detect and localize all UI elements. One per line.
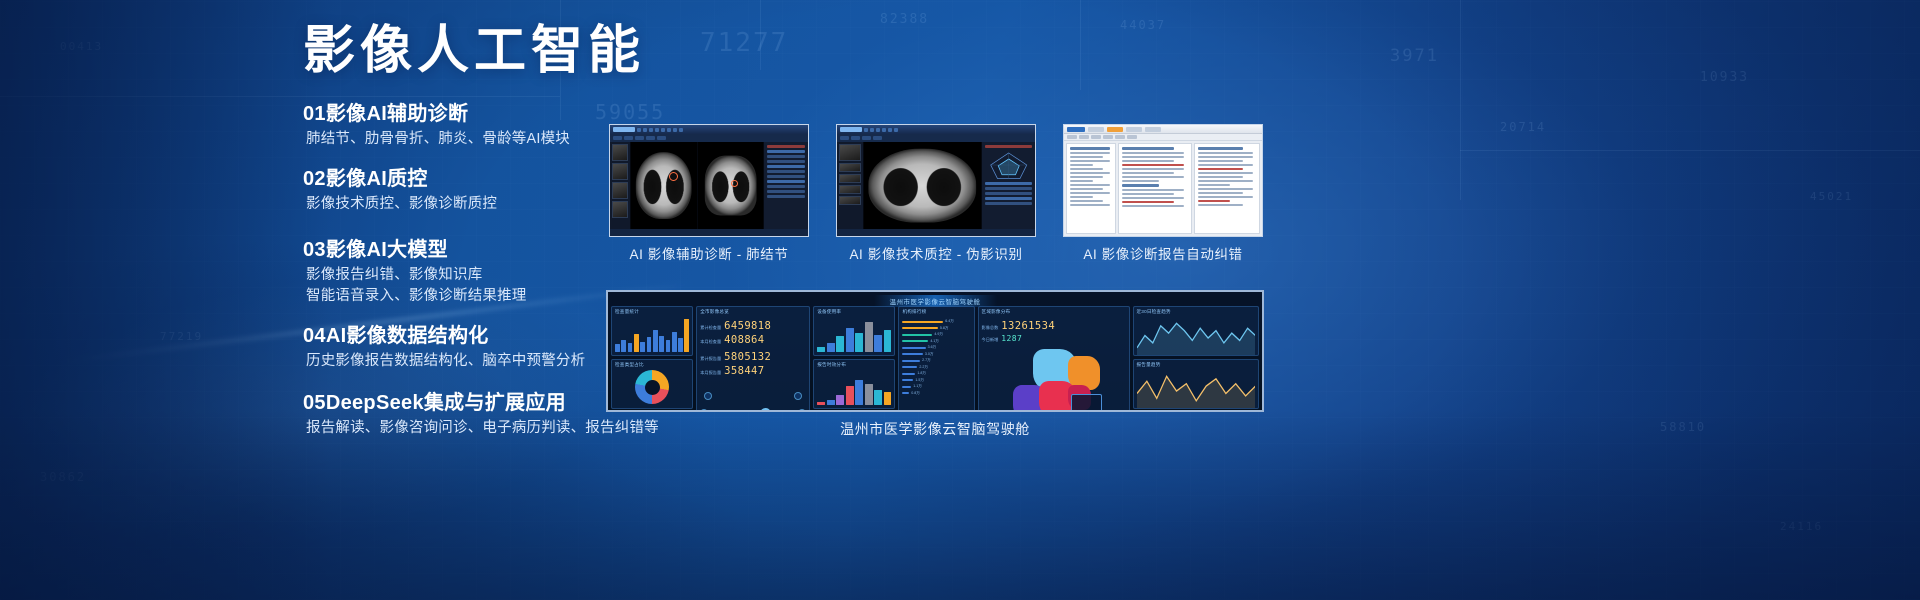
ranking-row: 5.8万 bbox=[902, 326, 970, 331]
stat-row: 累计检查量 6459818 bbox=[700, 320, 806, 332]
stat-label: 累计检查量 bbox=[700, 325, 721, 331]
dashboard-header: 温州市医学影像云智脑驾驶舱 bbox=[611, 295, 1259, 306]
stat-value: 6459818 bbox=[724, 320, 771, 332]
ranking-bar bbox=[902, 321, 943, 323]
series-thumbnail[interactable] bbox=[839, 144, 861, 161]
ranking-row: 4.1万 bbox=[902, 339, 970, 344]
toolbar-button[interactable] bbox=[657, 136, 666, 140]
dashboard-column-3: 设备使用率 报告时效分布 bbox=[813, 306, 895, 412]
list-item[interactable] bbox=[1070, 192, 1110, 194]
ranking-bar bbox=[902, 334, 932, 336]
bar bbox=[884, 330, 892, 352]
list-item[interactable] bbox=[1070, 188, 1103, 190]
suggestion-line bbox=[1198, 192, 1243, 194]
toolbar-icon[interactable] bbox=[870, 128, 874, 132]
stat-value: 358447 bbox=[724, 365, 764, 377]
list-item[interactable] bbox=[1070, 164, 1093, 166]
report-secondary-toolbar bbox=[1064, 134, 1262, 141]
app-logo-icon bbox=[840, 127, 862, 132]
app-logo-icon bbox=[1067, 127, 1085, 132]
bar bbox=[874, 390, 882, 405]
stat-row: 本月检查量 408864 bbox=[700, 334, 806, 346]
panel-row bbox=[985, 182, 1032, 185]
ranking-value: 3.0万 bbox=[925, 352, 934, 357]
map-stat-label: 影像总数 bbox=[982, 325, 999, 331]
panel-row bbox=[985, 187, 1032, 190]
toolbar-button[interactable] bbox=[1067, 135, 1077, 139]
report-line bbox=[1122, 180, 1158, 182]
toolbar-button[interactable] bbox=[862, 136, 871, 140]
card-title: 检查类型占比 bbox=[615, 362, 689, 368]
suggestion-line bbox=[1198, 188, 1252, 190]
list-item[interactable] bbox=[1070, 156, 1103, 158]
app-logo-icon bbox=[613, 127, 635, 132]
screenshot-caption-1: AI 影像辅助诊断 - 肺结节 bbox=[609, 243, 809, 263]
chart-card-bar-4[interactable]: 报告时效分布 bbox=[813, 359, 895, 409]
ct-axial-view[interactable] bbox=[631, 142, 697, 229]
suggestion-line bbox=[1198, 172, 1252, 174]
qc-result-panel[interactable] bbox=[982, 142, 1035, 229]
panel-row bbox=[767, 170, 805, 173]
bar bbox=[865, 322, 873, 352]
ranking-value: 4.9万 bbox=[934, 332, 943, 337]
list-item[interactable] bbox=[1070, 168, 1103, 170]
screenshot-caption-3: AI 影像诊断报告自动纠错 bbox=[1063, 243, 1263, 263]
human-figure-adult-right bbox=[760, 408, 771, 412]
ranking-bar bbox=[902, 373, 915, 375]
list-item[interactable] bbox=[1070, 176, 1103, 178]
toolbar-icon[interactable] bbox=[882, 128, 886, 132]
ranking-bar bbox=[902, 353, 922, 355]
list-item[interactable] bbox=[1070, 196, 1093, 198]
toolbar-icon[interactable] bbox=[888, 128, 892, 132]
ranking-bar bbox=[902, 392, 909, 394]
panel-row bbox=[767, 185, 805, 188]
report-line bbox=[1122, 193, 1173, 195]
stat-value: 5805132 bbox=[724, 351, 771, 363]
stat-row: 累计报告量 5805132 bbox=[700, 351, 806, 363]
bar bbox=[884, 392, 892, 405]
ranking-value: 1.5万 bbox=[915, 378, 924, 383]
panel-row bbox=[767, 165, 805, 168]
tab-item[interactable] bbox=[1145, 127, 1161, 132]
ranking-row: 3.6万 bbox=[902, 345, 970, 350]
panel-row bbox=[767, 160, 805, 163]
ct-lung-image bbox=[704, 155, 757, 216]
ranking-bar bbox=[902, 347, 925, 349]
screenshot-caption-2: AI 影像技术质控 - 伪影识别 bbox=[836, 243, 1036, 263]
toolbar-icon[interactable] bbox=[894, 128, 898, 132]
card-title: 报告量趋势 bbox=[1137, 362, 1255, 368]
ranking-bar bbox=[902, 386, 911, 388]
body-part-icon bbox=[794, 392, 802, 400]
donut-chart bbox=[635, 370, 669, 404]
dashboard-column-6: 近30日检查趋势 报告量趋势 bbox=[1133, 306, 1259, 412]
line-chart bbox=[1137, 369, 1255, 409]
bar bbox=[672, 332, 677, 352]
toolbar-button[interactable] bbox=[873, 136, 882, 140]
toolbar-icon[interactable] bbox=[649, 128, 653, 132]
region-map[interactable] bbox=[982, 347, 1126, 412]
suggestion-error-line bbox=[1198, 200, 1230, 202]
map-stat-label: 今日新增 bbox=[982, 337, 999, 343]
ranking-bar bbox=[902, 379, 913, 381]
ranking-row: 0.8万 bbox=[902, 391, 970, 396]
list-item[interactable] bbox=[1070, 200, 1103, 202]
bar bbox=[659, 336, 664, 352]
panel-row bbox=[767, 175, 805, 178]
list-item[interactable] bbox=[1070, 184, 1110, 186]
card-title: 近30日检查趋势 bbox=[1137, 309, 1255, 315]
pacs-body bbox=[837, 142, 1035, 229]
suggestion-line bbox=[1198, 160, 1243, 162]
map-legend-gradient bbox=[1120, 410, 1123, 412]
correction-suggestion-panel[interactable] bbox=[1194, 143, 1260, 234]
ranking-value: 4.1万 bbox=[930, 339, 939, 344]
report-line bbox=[1122, 160, 1173, 162]
ranking-row: 2.2万 bbox=[902, 365, 970, 370]
screenshot-dashboard[interactable]: 温州市医学影像云智脑驾驶舱 检查量统计 bbox=[606, 290, 1264, 412]
series-thumbnail[interactable] bbox=[839, 185, 861, 194]
pacs-viewer bbox=[610, 125, 808, 236]
toolbar-button[interactable] bbox=[1091, 135, 1101, 139]
pacs-body bbox=[610, 142, 808, 229]
tab-item[interactable] bbox=[1088, 127, 1104, 132]
list-item[interactable] bbox=[1070, 204, 1110, 206]
dashboard-grid: 检查量统计 bbox=[611, 306, 1259, 412]
suggestion-error-line bbox=[1198, 168, 1243, 170]
report-text-panel[interactable] bbox=[1118, 143, 1192, 234]
report-toolbar bbox=[1064, 125, 1262, 134]
chart-card-bar-3[interactable]: 设备使用率 bbox=[813, 306, 895, 356]
bar bbox=[874, 335, 882, 352]
bar-chart bbox=[615, 316, 689, 352]
report-error-line bbox=[1122, 164, 1184, 166]
ranking-value: 6.4万 bbox=[945, 319, 954, 324]
bar-chart bbox=[817, 369, 891, 405]
human-figure-adult-left bbox=[735, 411, 746, 412]
bar bbox=[836, 336, 844, 352]
card-title: 全市影像总览 bbox=[700, 309, 806, 315]
series-thumbnail[interactable] bbox=[839, 163, 861, 172]
panel-row bbox=[985, 197, 1032, 200]
report-line bbox=[1122, 197, 1184, 199]
series-thumbnail[interactable] bbox=[612, 144, 628, 161]
ranking-value: 2.7万 bbox=[922, 358, 931, 363]
bar bbox=[678, 338, 683, 352]
worklist-panel[interactable] bbox=[1066, 143, 1116, 234]
report-line bbox=[1122, 176, 1184, 178]
ranking-value: 1.1万 bbox=[913, 384, 922, 389]
bar bbox=[846, 328, 854, 353]
toolbar-icon[interactable] bbox=[673, 128, 677, 132]
report-line bbox=[1122, 172, 1173, 174]
report-line bbox=[1122, 152, 1184, 154]
panel-header bbox=[985, 145, 1032, 148]
toolbar-button[interactable] bbox=[613, 136, 622, 140]
pacs-statusbar bbox=[837, 229, 1035, 236]
toolbar-icon[interactable] bbox=[661, 128, 665, 132]
ct-axial-view[interactable] bbox=[864, 142, 981, 229]
toolbar-icon[interactable] bbox=[643, 128, 647, 132]
stat-label: 累计报告量 bbox=[700, 356, 721, 362]
toolbar-icon[interactable] bbox=[876, 128, 880, 132]
map-tooltip bbox=[1071, 394, 1103, 412]
report-editor bbox=[1064, 125, 1262, 236]
report-line bbox=[1122, 189, 1184, 191]
stat-value: 408864 bbox=[724, 334, 764, 346]
series-thumbnail-rail[interactable] bbox=[837, 142, 863, 229]
bar bbox=[855, 333, 863, 352]
line-chart bbox=[1137, 316, 1255, 356]
card-title: 报告时效分布 bbox=[817, 362, 891, 368]
ct-coronal-view[interactable] bbox=[698, 142, 764, 229]
chart-card-line-2[interactable]: 报告量趋势 bbox=[1133, 359, 1259, 409]
nodule-marker bbox=[731, 180, 738, 187]
ranking-value: 2.2万 bbox=[919, 365, 928, 370]
page-title: 影像人工智能 bbox=[303, 24, 733, 79]
suggestion-line bbox=[1198, 196, 1252, 198]
human-figure-visual bbox=[700, 381, 806, 412]
ranking-row: 3.0万 bbox=[902, 352, 970, 357]
toolbar-icon[interactable] bbox=[637, 128, 641, 132]
map-stat-row: 今日新增 1287 bbox=[982, 334, 1126, 343]
series-thumbnail[interactable] bbox=[612, 201, 628, 218]
dashboard-caption: 温州市医学影像云智脑驾驶舱 bbox=[606, 419, 1264, 439]
series-thumbnail[interactable] bbox=[839, 196, 861, 205]
ranking-row: 6.4万 bbox=[902, 319, 970, 324]
bar bbox=[865, 384, 873, 405]
bar bbox=[666, 340, 671, 352]
ranking-row: 4.9万 bbox=[902, 332, 970, 337]
stat-label: 本月检查量 bbox=[700, 339, 721, 345]
suggestion-line bbox=[1198, 176, 1243, 178]
series-thumbnail[interactable] bbox=[612, 163, 628, 180]
toolbar-button[interactable] bbox=[1103, 135, 1113, 139]
ct-chest-image bbox=[868, 148, 975, 223]
suggestion-line bbox=[1198, 204, 1243, 206]
ranking-bar bbox=[902, 366, 917, 368]
report-line bbox=[1122, 168, 1184, 170]
panel-row bbox=[767, 195, 805, 198]
suggestion-line bbox=[1198, 180, 1252, 182]
dashboard-column-2: 全市影像总览 累计检查量 6459818 本月检查量 408864 累计报告量 … bbox=[696, 306, 810, 412]
dashboard-title: 温州市医学影像云智脑驾驶舱 bbox=[874, 295, 997, 307]
card-title: 检查量统计 bbox=[615, 309, 689, 315]
panel-row bbox=[767, 155, 805, 158]
ct-lung-image bbox=[635, 152, 692, 220]
list-item[interactable] bbox=[1070, 172, 1110, 174]
map-stat-row: 影像总数 13261534 bbox=[982, 320, 1126, 332]
panel-row bbox=[767, 180, 805, 183]
bar bbox=[684, 319, 689, 352]
toolbar-button[interactable] bbox=[624, 136, 633, 140]
bar bbox=[817, 402, 825, 406]
suggestion-line bbox=[1198, 184, 1230, 186]
toolbar-icon[interactable] bbox=[655, 128, 659, 132]
series-thumbnail[interactable] bbox=[839, 174, 861, 183]
panel-row bbox=[767, 150, 805, 153]
stat-label: 本月报告量 bbox=[700, 370, 721, 376]
pacs-viewer bbox=[837, 125, 1035, 236]
list-item[interactable] bbox=[1070, 180, 1093, 182]
dashboard-column-4-ranking[interactable]: 机构排行榜 6.4万 5.8万 4.9万 4.1万 3.6万 3.0万 2.7万… bbox=[898, 306, 974, 412]
ranking-value: 3.6万 bbox=[928, 345, 937, 350]
toolbar-button[interactable] bbox=[635, 136, 644, 140]
panel-row bbox=[985, 192, 1032, 195]
bar bbox=[827, 343, 835, 352]
toolbar-button[interactable] bbox=[1115, 135, 1125, 139]
list-header bbox=[1070, 147, 1110, 150]
toolbar-button[interactable] bbox=[840, 136, 849, 140]
tab-item-active[interactable] bbox=[1107, 127, 1123, 132]
card-title: 区域影像分布 bbox=[982, 309, 1126, 315]
section-header bbox=[1122, 184, 1158, 187]
toolbar-button[interactable] bbox=[851, 136, 860, 140]
toolbar-icon[interactable] bbox=[864, 128, 868, 132]
suggestion-line bbox=[1198, 152, 1252, 154]
ranking-bar bbox=[902, 340, 928, 342]
toolbar-icon[interactable] bbox=[679, 128, 683, 132]
bar bbox=[846, 386, 854, 405]
ranking-bar bbox=[902, 327, 937, 329]
bar bbox=[647, 337, 652, 352]
map-stat-value: 1287 bbox=[1001, 334, 1022, 343]
ranking-list: 6.4万 5.8万 4.9万 4.1万 3.6万 3.0万 2.7万 2.2万 … bbox=[902, 319, 970, 396]
ranking-row: 1.5万 bbox=[902, 378, 970, 383]
report-error-line bbox=[1122, 201, 1173, 203]
map-stat-value: 13261534 bbox=[1001, 320, 1055, 332]
ranking-row: 2.7万 bbox=[902, 358, 970, 363]
pacs-statusbar bbox=[610, 229, 808, 236]
toolbar-button[interactable] bbox=[1079, 135, 1089, 139]
bar bbox=[628, 343, 633, 352]
bar bbox=[634, 334, 639, 352]
pacs-secondary-toolbar bbox=[610, 134, 808, 142]
suggestion-line bbox=[1198, 156, 1252, 158]
nodule-marker bbox=[669, 172, 678, 181]
toolbar-button[interactable] bbox=[646, 136, 655, 140]
chart-card-bar-1[interactable]: 检查量统计 bbox=[611, 306, 693, 356]
toolbar-icon[interactable] bbox=[667, 128, 671, 132]
bar bbox=[653, 330, 658, 352]
ranking-value: 1.8万 bbox=[917, 371, 926, 376]
list-item[interactable] bbox=[1070, 160, 1110, 162]
stat-row: 本月报告量 358447 bbox=[700, 365, 806, 377]
series-thumbnail[interactable] bbox=[612, 182, 628, 199]
ranking-bar bbox=[902, 360, 920, 362]
card-title: 机构排行榜 bbox=[902, 309, 970, 315]
screenshot-report-correction[interactable] bbox=[1063, 124, 1263, 237]
qc-radar-chart bbox=[985, 150, 1032, 180]
report-line bbox=[1122, 205, 1184, 207]
bar bbox=[640, 342, 645, 353]
tab-item[interactable] bbox=[1126, 127, 1142, 132]
chart-card-donut-1[interactable]: 检查类型占比 bbox=[611, 359, 693, 409]
ranking-value: 5.8万 bbox=[940, 326, 949, 331]
bar bbox=[855, 380, 863, 405]
screenshot-ai-diagnosis[interactable] bbox=[609, 124, 809, 237]
bar bbox=[621, 340, 626, 352]
bar-chart bbox=[817, 316, 891, 352]
dashboard-column-1: 检查量统计 bbox=[611, 306, 693, 412]
suggestion-line bbox=[1198, 164, 1252, 166]
list-item[interactable] bbox=[1070, 152, 1110, 154]
panel-row bbox=[985, 202, 1032, 205]
report-body bbox=[1064, 141, 1262, 236]
section-header bbox=[1122, 147, 1173, 150]
dashboard: 温州市医学影像云智脑驾驶舱 检查量统计 bbox=[608, 292, 1262, 410]
ranking-row: 1.8万 bbox=[902, 371, 970, 376]
panel-header bbox=[767, 145, 805, 148]
toolbar-button[interactable] bbox=[1127, 135, 1137, 139]
ranking-value: 0.8万 bbox=[911, 391, 920, 396]
screenshot-ai-qc[interactable] bbox=[836, 124, 1036, 237]
bar bbox=[827, 400, 835, 405]
report-line bbox=[1122, 156, 1184, 158]
ai-findings-panel[interactable] bbox=[764, 142, 808, 229]
bar bbox=[817, 347, 825, 352]
bar bbox=[836, 395, 844, 406]
pacs-toolbar bbox=[837, 125, 1035, 134]
section-header bbox=[1198, 147, 1243, 150]
chart-card-line-1[interactable]: 近30日检查趋势 bbox=[1133, 306, 1259, 356]
pacs-toolbar bbox=[610, 125, 808, 134]
dashboard-column-5-map[interactable]: 区域影像分布 影像总数 13261534 今日新增 1287 bbox=[978, 306, 1130, 412]
body-part-icon bbox=[700, 409, 708, 412]
card-title: 设备使用率 bbox=[817, 309, 891, 315]
panel-row bbox=[767, 190, 805, 193]
body-part-icon bbox=[704, 392, 712, 400]
body-part-icon bbox=[798, 409, 806, 412]
bar bbox=[615, 344, 620, 352]
ranking-row: 1.1万 bbox=[902, 384, 970, 389]
series-thumbnail-rail[interactable] bbox=[610, 142, 630, 229]
pacs-secondary-toolbar bbox=[837, 134, 1035, 142]
